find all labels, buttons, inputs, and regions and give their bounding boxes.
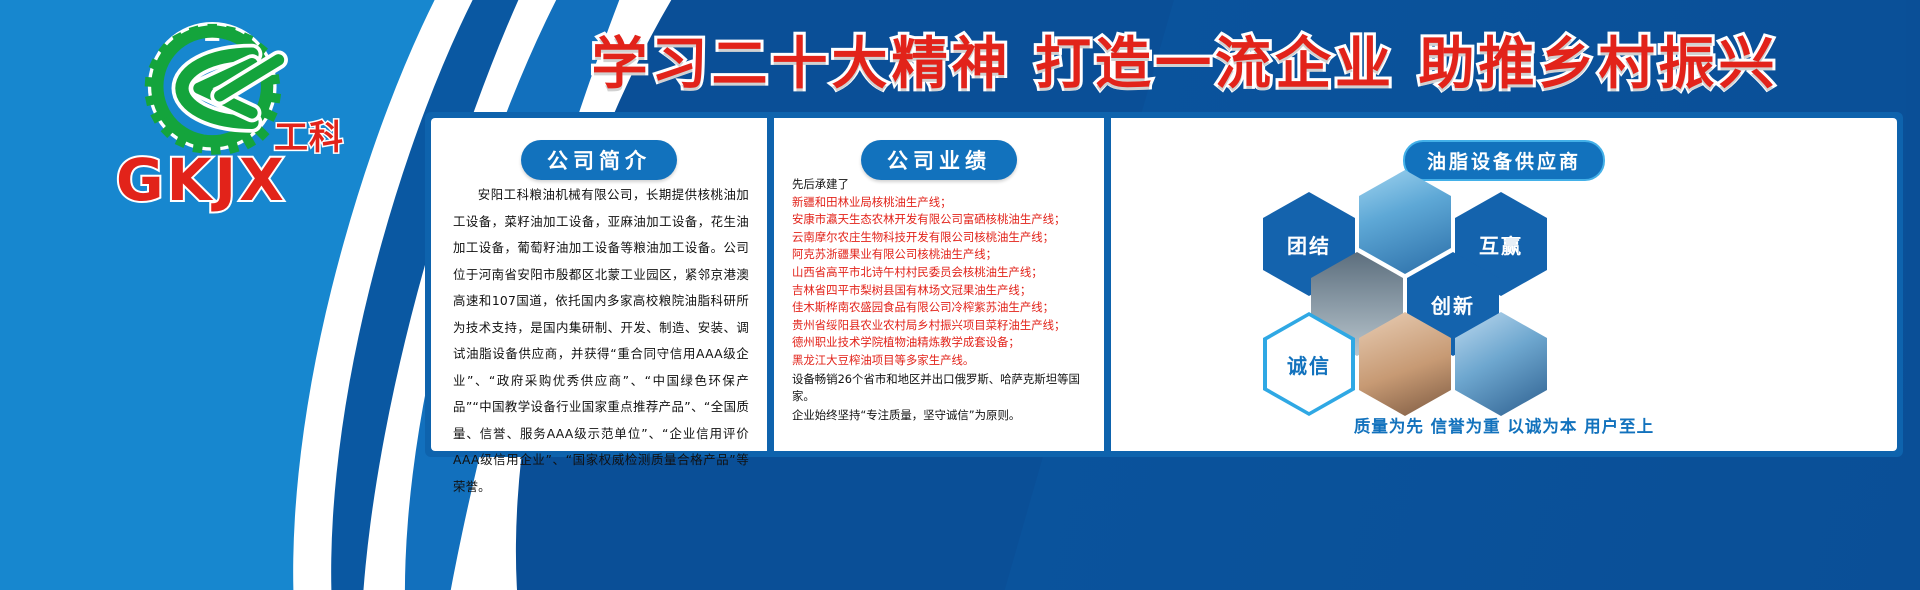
- performance-item: 德州职业技术学院植物油精炼教学成套设备；: [792, 334, 1092, 352]
- company-logo: 工科 GKJX: [112, 22, 332, 212]
- hex-inner: 诚信: [1267, 316, 1351, 412]
- hex-label: 诚信: [1287, 350, 1331, 379]
- panel-company-performance: 公司业绩 先后承建了 新疆和田林业局核桃油生产线； 安康市瀛天生态农林开发有限公…: [774, 118, 1104, 451]
- performance-item: 山西省高平市北诗午村村民委员会核桃油生产线；: [792, 264, 1092, 282]
- performance-item: 黑龙江大豆榨油项目等多家生产线。: [792, 352, 1092, 370]
- headline-banner: 学习二十大精神 打造一流企业 助推乡村振兴: [470, 16, 1900, 102]
- hex-photo-city: [1359, 170, 1451, 274]
- panel-heading-company-performance: 公司业绩: [861, 140, 1017, 180]
- performance-lead: 先后承建了: [792, 176, 1092, 194]
- logo-latin-text: GKJX: [116, 146, 287, 214]
- panel-heading-supplier: 油脂设备供应商: [1403, 140, 1605, 181]
- panel-company-intro: 公司简介 安阳工科粮油机械有限公司，长期提供核桃油加工设备，菜籽油加工设备，亚麻…: [431, 118, 767, 451]
- performance-item: 云南摩尔农庄生物科技开发有限公司核桃油生产线；: [792, 229, 1092, 247]
- poster-canvas: 工科 GKJX 学习二十大精神 打造一流企业 助推乡村振兴 公司简介 安阳工科粮…: [0, 0, 1920, 590]
- headline-text: 学习二十大精神 打造一流企业 助推乡村振兴: [592, 19, 1779, 100]
- panel-heading-company-intro: 公司简介: [521, 140, 677, 180]
- right-edge-strip: [1906, 0, 1920, 590]
- performance-tail: 设备畅销26个省市和地区并出口俄罗斯、哈萨克斯坦等国家。: [792, 371, 1092, 406]
- city-photo-icon: [1359, 170, 1451, 274]
- performance-item: 佳木斯桦南农盛园食品有限公司冷榨紫苏油生产线；: [792, 299, 1092, 317]
- performance-body: 先后承建了 新疆和田林业局核桃油生产线； 安康市瀛天生态农林开发有限公司富硒核桃…: [792, 176, 1092, 424]
- performance-item: 吉林省四平市梨树县国有林场文冠果油生产线；: [792, 282, 1092, 300]
- performance-item: 新疆和田林业局核桃油生产线；: [792, 194, 1092, 212]
- performance-item: 贵州省绥阳县农业农村局乡村振兴项目菜籽油生产线；: [792, 317, 1092, 335]
- gear-logo-icon: [140, 22, 292, 164]
- performance-item: 安康市瀛天生态农林开发有限公司富硒核桃油生产线；: [792, 211, 1092, 229]
- hex-label: 团结: [1287, 230, 1331, 259]
- supplier-slogan: 质量为先 信誉为重 以诚为本 用户至上: [1111, 413, 1897, 437]
- panel-supplier: 油脂设备供应商 团结 互赢 创新: [1111, 118, 1897, 451]
- company-intro-body: 安阳工科粮油机械有限公司，长期提供核桃油加工设备，菜籽油加工设备，亚麻油加工设备…: [453, 182, 749, 500]
- performance-item: 阿克苏浙疆果业有限公司核桃油生产线；: [792, 246, 1092, 264]
- panel-group: 公司简介 安阳工科粮油机械有限公司，长期提供核桃油加工设备，菜籽油加工设备，亚麻…: [425, 112, 1903, 457]
- hex-label: 互赢: [1479, 230, 1523, 259]
- performance-tail: 企业始终坚持“专注质量，坚守诚信”为原则。: [792, 407, 1092, 425]
- hexagon-cluster: 团结 互赢 创新 诚信: [1111, 186, 1897, 386]
- hex-label: 创新: [1431, 290, 1475, 319]
